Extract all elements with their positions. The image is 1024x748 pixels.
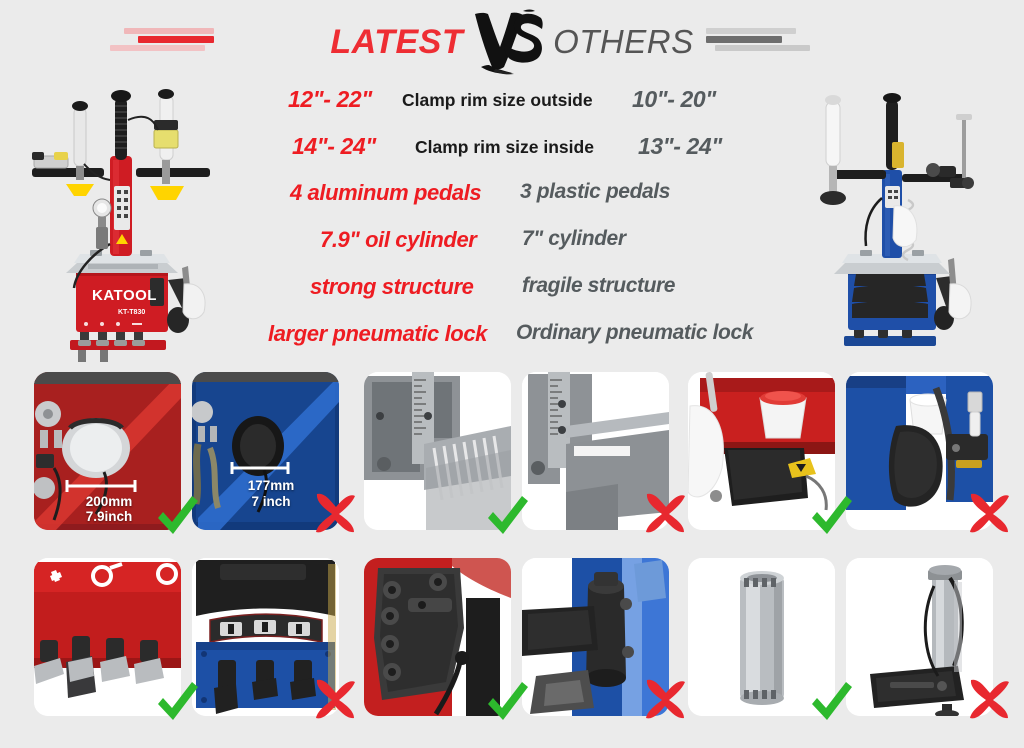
comparison-cell-pneumatic-lock (364, 558, 674, 736)
comparison-cell-lubricator (688, 372, 998, 550)
comparison-cell-plate-thickness (364, 372, 674, 550)
svg-text:KATOOL: KATOOL (92, 287, 157, 304)
latest-label: LATEST (330, 23, 463, 62)
caption-others-cylinder-inch: 7 inch (226, 494, 316, 509)
cross-icon (312, 676, 358, 722)
spec-latest-value: 12"- 22" (288, 86, 372, 113)
deco-line (706, 36, 782, 43)
cross-icon (642, 676, 688, 722)
spec-row: 14"- 24" Clamp rim size inside 13"- 24" (250, 129, 790, 176)
deco-line (706, 28, 796, 34)
spec-row: 7.9" oil cylinder 7" cylinder (250, 223, 790, 270)
spec-others-value: 10"- 20" (632, 86, 716, 113)
spec-others-value: 13"- 24" (638, 133, 722, 160)
spec-latest-value: strong structure (310, 274, 474, 300)
comparison-cell-pedals (34, 558, 344, 736)
check-icon (484, 680, 530, 726)
spec-comparison-table: 12"- 22" Clamp rim size outside 10"- 20"… (250, 82, 790, 362)
machine-photo-latest-red: KATOOL KT-T830 (18, 68, 238, 368)
svg-text:KT-T830: KT-T830 (118, 309, 145, 316)
comparison-infographic: LATEST OTHERS (0, 0, 1024, 748)
header-title-group: LATEST OTHERS (0, 14, 1024, 70)
caption-latest-cylinder-mm: 200mm (64, 494, 154, 509)
cross-icon (312, 490, 358, 536)
machine-photo-others-blue (790, 78, 1008, 370)
spec-others-value: 7" cylinder (522, 227, 626, 251)
check-icon (808, 494, 854, 540)
others-label: OTHERS (553, 23, 694, 61)
comparison-cell-oil-cylinder-diameter: 200mm 7.9inch (34, 372, 344, 550)
spec-latest-value: 4 aluminum pedals (290, 180, 481, 206)
caption-latest-cylinder-inch: 7.9inch (64, 509, 154, 524)
caption-others-cylinder-mm: 177mm (226, 478, 316, 493)
cross-icon (966, 490, 1012, 536)
cross-icon (966, 676, 1012, 722)
spec-feature-label: Clamp rim size inside (415, 137, 594, 158)
spec-others-value: 3 plastic pedals (520, 180, 670, 204)
spec-row: 4 aluminum pedals 3 plastic pedals (250, 176, 790, 223)
spec-latest-value: 14"- 24" (292, 133, 376, 160)
spec-feature-label: Clamp rim size outside (402, 90, 593, 111)
comparison-cell-cylinder-build (688, 558, 998, 736)
vs-brush-icon (471, 9, 545, 75)
spec-others-value: Ordinary pneumatic lock (516, 321, 753, 345)
check-icon (154, 494, 200, 540)
cross-icon (642, 490, 688, 536)
check-icon (808, 680, 854, 726)
spec-latest-value: 7.9" oil cylinder (320, 227, 476, 253)
header: LATEST OTHERS (0, 0, 1024, 78)
spec-row: larger pneumatic lock Ordinary pneumatic… (250, 317, 790, 364)
check-icon (154, 680, 200, 726)
spec-others-value: fragile structure (522, 274, 675, 298)
check-icon (484, 494, 530, 540)
decorative-lines-right (706, 28, 810, 54)
spec-latest-value: larger pneumatic lock (268, 321, 487, 347)
spec-row: strong structure fragile structure (250, 270, 790, 317)
deco-line (715, 45, 810, 51)
comparison-photo-grid: 200mm 7.9inch (0, 372, 1024, 748)
spec-row: 12"- 22" Clamp rim size outside 10"- 20" (250, 82, 790, 129)
